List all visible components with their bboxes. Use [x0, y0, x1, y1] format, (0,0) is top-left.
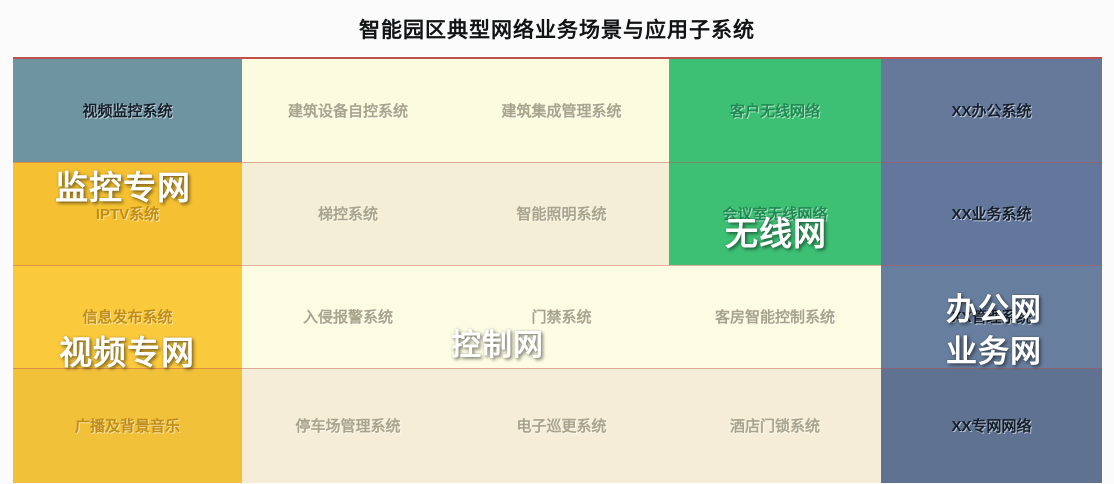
matrix-cell[interactable]: XX办公系统	[881, 59, 1102, 162]
matrix-cell[interactable]: 广播及背景音乐	[13, 368, 242, 483]
page-title: 智能园区典型网络业务场景与应用子系统	[359, 14, 755, 44]
cell-label: 电子巡更系统	[516, 415, 606, 436]
cell-label: 视频监控系统	[82, 100, 172, 121]
matrix-cell[interactable]: XX专网网络	[881, 368, 1102, 483]
row-divider	[13, 162, 1102, 163]
cell-label: 客房智能控制系统	[715, 306, 835, 327]
cell-label: XX业务系统	[951, 203, 1031, 224]
cell-label: 客户无线网络	[730, 100, 820, 121]
matrix-cell[interactable]: 信息发布系统	[13, 265, 242, 368]
subsystem-matrix: 视频监控系统 建筑设备自控系统 建筑集成管理系统 客户无线网络 XX办公系统 I…	[13, 57, 1102, 481]
cell-label: 建筑设备自控系统	[288, 100, 408, 121]
row-divider	[13, 265, 1102, 266]
cell-label: 信息发布系统	[82, 306, 172, 327]
cell-label: 建筑集成管理系统	[501, 100, 621, 121]
cell-label: 酒店门锁系统	[730, 415, 820, 436]
cell-label: 入侵报警系统	[303, 306, 393, 327]
matrix-grid: 视频监控系统 建筑设备自控系统 建筑集成管理系统 客户无线网络 XX办公系统 I…	[13, 59, 1102, 479]
matrix-cell[interactable]: XX管理系统	[881, 265, 1102, 368]
matrix-cell[interactable]: 梯控系统	[242, 162, 454, 265]
matrix-cell[interactable]: 建筑集成管理系统	[454, 59, 669, 162]
matrix-cell[interactable]: 酒店门锁系统	[669, 368, 881, 483]
cell-label: 停车场管理系统	[295, 415, 400, 436]
matrix-cell[interactable]: 入侵报警系统	[242, 265, 454, 368]
matrix-cell[interactable]: 停车场管理系统	[242, 368, 454, 483]
matrix-cell[interactable]: 门禁系统	[454, 265, 669, 368]
matrix-cell[interactable]: 客户无线网络	[669, 59, 881, 162]
cell-label: 广播及背景音乐	[75, 415, 180, 436]
cell-label: 梯控系统	[318, 203, 378, 224]
cell-label: XX办公系统	[951, 100, 1031, 121]
diagram-page: 智能园区典型网络业务场景与应用子系统 视频监控系统 建筑设备自控系统 建筑集成管…	[0, 0, 1114, 484]
matrix-cell[interactable]: 客房智能控制系统	[669, 265, 881, 368]
matrix-cell[interactable]: XX业务系统	[881, 162, 1102, 265]
matrix-cell[interactable]: IPTV系统	[13, 162, 242, 265]
row-divider	[13, 368, 1102, 369]
cell-label: XX专网网络	[951, 415, 1031, 436]
matrix-cell[interactable]: 视频监控系统	[13, 59, 242, 162]
matrix-cell[interactable]: 会议室无线网络	[669, 162, 881, 265]
cell-label: 门禁系统	[531, 306, 591, 327]
matrix-cell[interactable]: 电子巡更系统	[454, 368, 669, 483]
cell-label: IPTV系统	[96, 203, 159, 224]
title-bar: 智能园区典型网络业务场景与应用子系统	[0, 0, 1114, 57]
matrix-cell[interactable]: 建筑设备自控系统	[242, 59, 454, 162]
cell-label: XX管理系统	[951, 306, 1031, 327]
cell-label: 会议室无线网络	[722, 203, 827, 224]
cell-label: 智能照明系统	[516, 203, 606, 224]
matrix-cell[interactable]: 智能照明系统	[454, 162, 669, 265]
